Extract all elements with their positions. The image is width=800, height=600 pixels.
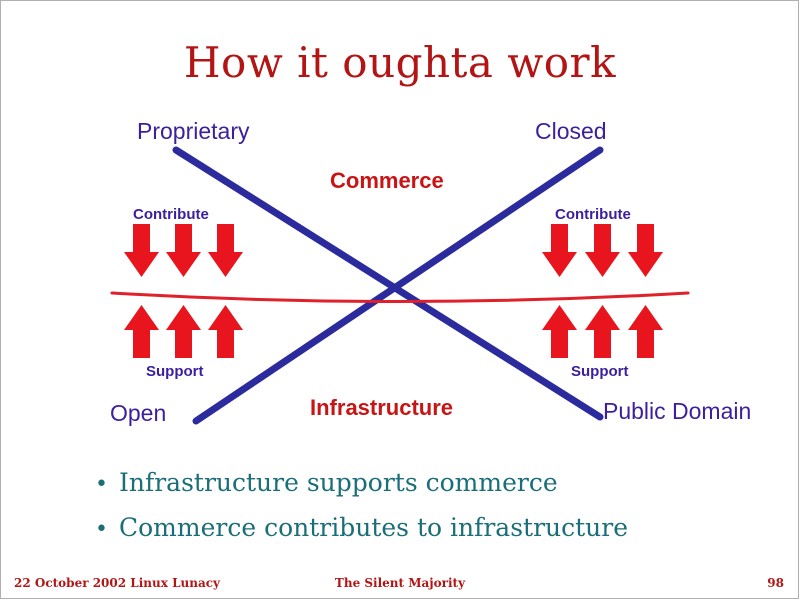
- down-arrow-icon-left-3: [208, 224, 243, 277]
- down-arrow-icon-left-2: [166, 224, 201, 277]
- bullet-marker-icon: •: [95, 517, 119, 542]
- bullet-text: Commerce contributes to infrastructure: [119, 513, 628, 542]
- label-proprietary: Proprietary: [137, 118, 249, 144]
- up-arrow-icon-left-3: [208, 305, 243, 358]
- label-commerce: Commerce: [330, 168, 444, 194]
- down-arrow-icon-right-3: [628, 224, 663, 277]
- down-arrow-icon-right-1: [542, 224, 577, 277]
- up-arrow-icon-right-3: [628, 305, 663, 358]
- slide-canvas: How it oughta work: [0, 0, 800, 600]
- bullet-text: Infrastructure supports commerce: [119, 468, 558, 497]
- label-closed: Closed: [535, 118, 607, 144]
- footer-presentation-title: The Silent Majority: [0, 576, 800, 590]
- up-arrow-icon-right-1: [542, 305, 577, 358]
- up-arrow-icon-left-2: [166, 305, 201, 358]
- label-contribute-left: Contribute: [133, 206, 209, 223]
- down-arrow-icon-right-2: [585, 224, 620, 277]
- list-item: • Infrastructure supports commerce: [95, 468, 755, 497]
- label-public-domain: Public Domain: [603, 398, 703, 424]
- down-arrow-icon-left-1: [124, 224, 159, 277]
- label-contribute-right: Contribute: [555, 206, 631, 223]
- label-support-right: Support: [571, 363, 629, 380]
- list-item: • Commerce contributes to infrastructure: [95, 513, 755, 542]
- label-support-left: Support: [146, 363, 204, 380]
- bullet-marker-icon: •: [95, 472, 119, 497]
- up-arrow-icon-right-2: [585, 305, 620, 358]
- label-open: Open: [110, 400, 166, 426]
- label-infrastructure: Infrastructure: [310, 395, 453, 421]
- up-arrow-icon-left-1: [124, 305, 159, 358]
- footer-page-number: 98: [767, 576, 784, 590]
- bullet-list: • Infrastructure supports commerce • Com…: [95, 468, 755, 558]
